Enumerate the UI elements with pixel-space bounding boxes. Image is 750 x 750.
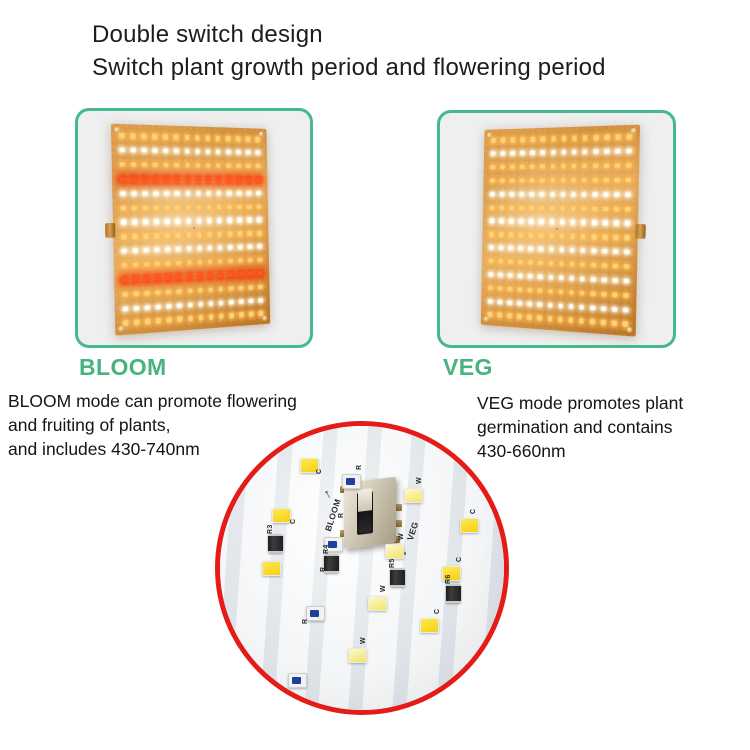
- led: [611, 321, 616, 326]
- led-row: [489, 205, 630, 212]
- led: [153, 149, 158, 154]
- led: [612, 292, 617, 297]
- led: [165, 219, 170, 224]
- led: [517, 301, 522, 306]
- led: [498, 246, 503, 251]
- led: [120, 206, 125, 211]
- led: [167, 303, 172, 308]
- led: [218, 287, 223, 292]
- screw-icon: [119, 326, 125, 332]
- led: [236, 177, 241, 181]
- led: [209, 301, 214, 306]
- led: [590, 263, 595, 268]
- led: [143, 220, 148, 225]
- led: [560, 164, 565, 169]
- led: [237, 218, 242, 222]
- led: [195, 136, 200, 141]
- led: [155, 262, 160, 267]
- led: [548, 261, 553, 266]
- led: [198, 274, 203, 279]
- led: [580, 234, 585, 239]
- led: [624, 235, 629, 240]
- led: [529, 178, 534, 182]
- led: [144, 262, 149, 267]
- led: [508, 232, 513, 237]
- led: [500, 152, 505, 156]
- led: [603, 164, 608, 169]
- resistor-r4: [324, 554, 339, 573]
- led: [218, 273, 223, 278]
- led: [122, 263, 127, 268]
- bloom-led-board: [111, 124, 270, 336]
- led: [489, 219, 493, 223]
- switch-lever[interactable]: [358, 488, 372, 512]
- led: [561, 136, 566, 141]
- led: [508, 259, 513, 264]
- led: [529, 192, 534, 196]
- led: [227, 218, 232, 223]
- led: [624, 250, 629, 255]
- led: [228, 245, 233, 250]
- led: [548, 247, 553, 252]
- led: [625, 163, 630, 168]
- led-row: [490, 148, 631, 156]
- heading-line-2: Switch plant growth period and flowering…: [92, 51, 712, 84]
- led: [550, 178, 555, 183]
- component-ref-r: R: [302, 619, 309, 624]
- led-row: [122, 271, 263, 283]
- led: [216, 150, 221, 155]
- led: [497, 299, 502, 304]
- led: [247, 231, 252, 235]
- led: [249, 298, 254, 303]
- component-ref-c: C: [434, 609, 441, 614]
- component-ref-w: W: [398, 533, 405, 540]
- led: [123, 321, 128, 326]
- led: [236, 137, 241, 142]
- led: [142, 191, 147, 196]
- led: [154, 205, 159, 210]
- led: [246, 177, 251, 181]
- led: [133, 263, 138, 268]
- led: [580, 248, 585, 253]
- led: [559, 220, 564, 225]
- bloom-led-grid: [119, 133, 263, 326]
- led: [131, 162, 136, 167]
- led: [259, 311, 263, 316]
- veg-panel-frame: [437, 110, 676, 348]
- led: [165, 247, 170, 252]
- led: [119, 133, 124, 138]
- led: [498, 232, 503, 236]
- led: [604, 135, 609, 140]
- led: [132, 205, 137, 210]
- led: [590, 291, 595, 296]
- led: [246, 137, 251, 142]
- led: [527, 315, 532, 320]
- led: [540, 151, 545, 156]
- led: [527, 288, 532, 293]
- led: [509, 205, 514, 209]
- led: [239, 312, 244, 317]
- led: [120, 191, 125, 196]
- led: [518, 219, 523, 224]
- led: [123, 306, 128, 311]
- led: [581, 178, 586, 183]
- component-ref-c: C: [470, 509, 477, 514]
- led: [121, 220, 126, 225]
- veg-led-board: [480, 125, 639, 337]
- led: [613, 249, 618, 254]
- led: [517, 314, 522, 319]
- led: [206, 177, 211, 182]
- led: [538, 274, 543, 279]
- led: [142, 148, 147, 153]
- led: [205, 136, 210, 141]
- led: [590, 277, 595, 282]
- led: [217, 205, 222, 210]
- led: [507, 286, 512, 291]
- led: [249, 312, 254, 317]
- resistor-r5: [390, 568, 405, 587]
- led: [196, 177, 201, 182]
- led: [592, 164, 597, 169]
- led: [174, 135, 179, 140]
- led: [215, 136, 220, 141]
- led: [164, 163, 169, 168]
- led: [131, 191, 136, 196]
- led: [153, 177, 158, 182]
- led: [155, 276, 160, 281]
- led: [612, 278, 617, 283]
- led: [219, 314, 224, 319]
- led: [613, 206, 618, 211]
- led-row: [119, 133, 260, 142]
- led: [558, 289, 563, 294]
- led: [561, 150, 566, 155]
- led: [239, 285, 244, 290]
- veg-board-wrap: [440, 113, 673, 345]
- led: [133, 291, 138, 296]
- led: [166, 261, 171, 266]
- led: [143, 234, 148, 239]
- led: [185, 163, 190, 168]
- led: [625, 192, 630, 197]
- led: [558, 275, 563, 280]
- led-row: [489, 218, 630, 226]
- led: [571, 178, 576, 183]
- component-ref-r: R: [338, 513, 345, 518]
- led: [549, 206, 554, 211]
- led: [560, 192, 565, 197]
- led: [206, 163, 211, 168]
- led: [185, 149, 190, 154]
- led: [219, 300, 224, 305]
- led: [131, 177, 136, 182]
- led: [548, 289, 553, 294]
- led: [176, 219, 181, 224]
- led: [248, 285, 253, 290]
- led: [144, 276, 149, 281]
- led: [164, 191, 169, 196]
- led: [165, 233, 170, 238]
- led: [529, 206, 534, 211]
- component-ref-r5: R5: [389, 558, 396, 568]
- led-row: [491, 134, 632, 143]
- led: [559, 234, 564, 239]
- led: [547, 302, 552, 307]
- led: [133, 277, 138, 282]
- component-ref-c: C: [316, 469, 323, 474]
- led: [519, 178, 524, 182]
- led: [153, 163, 158, 168]
- heading-line-1: Double switch design: [92, 18, 712, 51]
- led: [175, 205, 180, 210]
- led: [539, 206, 544, 211]
- led: [188, 302, 193, 307]
- led: [143, 205, 148, 210]
- led: [602, 249, 607, 254]
- led: [569, 248, 574, 253]
- led: [208, 260, 213, 265]
- led: [540, 164, 545, 169]
- rocker-switch[interactable]: [338, 480, 402, 552]
- led: [579, 290, 584, 295]
- led: [539, 219, 544, 224]
- led-row: [488, 285, 629, 298]
- led: [570, 234, 575, 239]
- bloom-board-wrap: [78, 111, 310, 345]
- led: [218, 259, 223, 264]
- led: [258, 298, 262, 303]
- led: [518, 260, 523, 265]
- led: [247, 191, 252, 195]
- led: [570, 220, 575, 225]
- led: [623, 278, 628, 283]
- led: [197, 232, 202, 237]
- led: [613, 221, 618, 226]
- component-ref-r3: R3: [267, 524, 274, 534]
- veg-led-grid: [487, 134, 631, 327]
- led: [217, 218, 222, 223]
- led: [603, 178, 608, 183]
- led: [186, 205, 191, 210]
- led: [489, 192, 493, 196]
- led: [530, 151, 535, 156]
- led: [614, 163, 619, 168]
- led: [153, 191, 158, 196]
- led: [602, 221, 607, 226]
- led: [247, 218, 252, 222]
- led-row: [123, 311, 263, 326]
- led-row: [487, 298, 628, 312]
- led: [603, 192, 608, 197]
- led: [537, 288, 542, 293]
- led-row: [490, 177, 631, 183]
- led: [497, 286, 502, 291]
- smd-led-cool: [460, 518, 479, 533]
- led: [176, 261, 181, 266]
- led: [256, 151, 261, 155]
- veg-description: VEG mode promotes plant germination and …: [477, 391, 747, 463]
- led: [582, 164, 587, 169]
- led: [623, 264, 628, 269]
- led: [257, 218, 261, 222]
- led: [615, 135, 620, 140]
- led: [217, 232, 222, 237]
- led: [152, 134, 157, 139]
- led-row: [120, 162, 261, 169]
- led: [559, 248, 564, 253]
- led: [549, 220, 554, 225]
- led: [133, 248, 138, 253]
- board-connector: [635, 224, 645, 239]
- led: [500, 165, 505, 169]
- led: [195, 163, 200, 168]
- led: [238, 245, 243, 250]
- led: [239, 299, 244, 304]
- led: [550, 150, 555, 155]
- led: [549, 192, 554, 197]
- led: [590, 305, 595, 310]
- led: [519, 206, 524, 210]
- led: [558, 303, 563, 308]
- led: [538, 261, 543, 266]
- led: [510, 151, 515, 156]
- led: [488, 245, 492, 250]
- led: [207, 205, 212, 210]
- led: [570, 192, 575, 197]
- led: [177, 289, 182, 294]
- led: [571, 164, 576, 169]
- led: [121, 249, 126, 254]
- led: [537, 302, 542, 307]
- led: [184, 135, 189, 140]
- led: [570, 206, 575, 211]
- led: [490, 165, 495, 169]
- led: [539, 178, 544, 183]
- led: [623, 293, 628, 298]
- component-ref-r: R: [356, 465, 363, 470]
- led: [604, 149, 609, 154]
- led: [187, 247, 192, 252]
- led: [528, 233, 533, 238]
- led: [228, 272, 233, 277]
- smd-led-red: [288, 673, 307, 688]
- led-row: [487, 312, 627, 327]
- component-ref-w: W: [360, 637, 367, 644]
- led: [568, 304, 573, 309]
- led-row: [122, 284, 263, 297]
- led: [256, 191, 260, 195]
- led: [499, 205, 504, 209]
- led: [209, 315, 214, 320]
- led: [540, 137, 545, 142]
- led: [614, 178, 619, 183]
- led: [626, 134, 631, 139]
- led: [497, 313, 502, 318]
- led: [237, 191, 242, 195]
- led: [626, 149, 631, 154]
- led: [601, 292, 606, 297]
- led: [257, 204, 261, 208]
- led: [490, 179, 494, 183]
- smd-led-cool: [262, 561, 281, 576]
- led: [131, 148, 136, 153]
- led: [155, 290, 160, 295]
- led: [559, 261, 564, 266]
- led: [206, 150, 211, 155]
- led: [248, 245, 253, 250]
- led: [206, 191, 211, 196]
- led: [547, 316, 552, 321]
- led-row: [120, 190, 261, 196]
- led: [510, 138, 515, 143]
- smd-led-red: [342, 474, 361, 489]
- led: [528, 247, 533, 252]
- led: [163, 135, 168, 140]
- led: [120, 177, 125, 182]
- led: [551, 137, 556, 142]
- component-ref-w: W: [380, 585, 387, 592]
- led: [156, 318, 161, 323]
- led: [527, 274, 532, 279]
- led: [258, 284, 262, 289]
- led: [571, 150, 576, 155]
- led: [216, 164, 221, 169]
- led: [569, 262, 574, 267]
- led: [164, 177, 169, 182]
- led: [510, 165, 515, 169]
- led: [257, 231, 261, 235]
- led: [132, 234, 137, 239]
- led: [196, 191, 201, 196]
- led: [196, 205, 201, 210]
- led: [229, 300, 234, 305]
- bloom-mode-label: BLOOM: [79, 354, 167, 381]
- led: [227, 205, 232, 209]
- component-ref-c: C: [456, 557, 463, 562]
- led: [228, 259, 233, 264]
- led: [592, 206, 597, 211]
- led: [186, 219, 191, 224]
- led: [258, 258, 262, 263]
- led: [177, 275, 182, 280]
- led-row: [121, 244, 262, 254]
- led: [207, 218, 212, 223]
- smd-led-cool: [420, 618, 439, 633]
- smd-led-warm: [368, 596, 387, 611]
- led: [580, 262, 585, 267]
- led: [248, 272, 253, 277]
- led: [528, 260, 533, 265]
- led: [499, 219, 504, 223]
- led: [134, 320, 139, 325]
- led-row: [122, 257, 263, 268]
- led: [174, 149, 179, 154]
- led: [134, 305, 139, 310]
- led: [130, 134, 135, 139]
- led-row: [489, 191, 630, 197]
- led: [578, 318, 583, 323]
- led: [602, 235, 607, 240]
- led: [174, 163, 179, 168]
- led: [154, 234, 159, 239]
- bloom-panel-frame: [75, 108, 313, 348]
- led: [247, 204, 252, 208]
- led-row: [119, 147, 260, 155]
- resistor-r6: [446, 584, 461, 603]
